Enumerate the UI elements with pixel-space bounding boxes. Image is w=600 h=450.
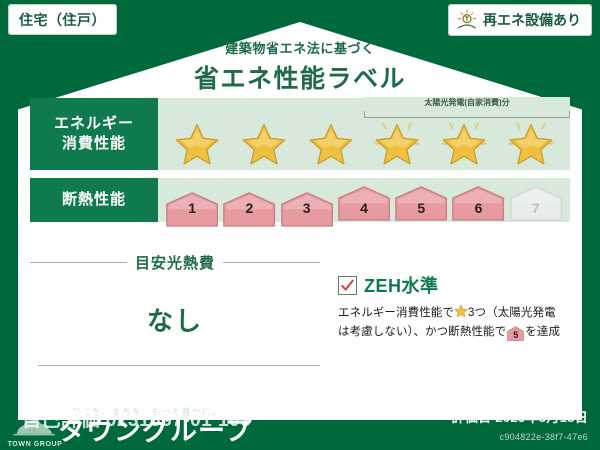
- zeh-desc-part1: エネルギー消費性能で: [338, 307, 454, 319]
- star-icon-solar: [505, 117, 557, 167]
- insulation-performance-value: 1 2 3 4 5: [158, 178, 570, 222]
- insulation-grade-5: 5: [395, 186, 447, 220]
- star-icon: [305, 117, 357, 167]
- check-icon: [338, 276, 357, 295]
- grade-number: 7: [532, 201, 540, 218]
- utility-cost-column: 目安光熱費 なし: [30, 250, 320, 380]
- sun-solar-icon: [456, 9, 478, 31]
- star-icon: [171, 117, 223, 167]
- evaluation-date: 評価日 2025年8月18日: [452, 407, 588, 426]
- energy-label-line1: エネルギー: [54, 114, 134, 134]
- lower-section: 目安光熱費 なし ZEH水準 エネルギー消費性能で3つ（太陽光発電は考慮しない）…: [30, 250, 570, 380]
- insulation-grade-7: 7: [510, 186, 562, 220]
- grade-number: 6: [475, 201, 483, 218]
- solar-portion-bracket: 太陽光発電(自家消費)分: [364, 100, 570, 118]
- zeh-title: ZEH水準: [364, 272, 439, 298]
- star-icon-solar: [438, 117, 490, 167]
- insulation-grade-6: 6: [452, 186, 504, 220]
- insulation-grade-2: 2: [223, 192, 275, 220]
- insulation-performance-row: 断熱性能 1 2 3: [30, 178, 570, 222]
- grade-number: 3: [303, 201, 311, 218]
- housing-type-badge: 住宅（住戸）: [8, 4, 117, 35]
- star-icon-solar: [371, 117, 423, 167]
- insulation-grade-1: 1: [166, 192, 218, 220]
- energy-performance-label: エネルギー 消費性能: [30, 98, 158, 170]
- inline-grade-house-icon: 5: [507, 326, 524, 341]
- grade-number: 1: [188, 201, 196, 218]
- utility-cost-value: なし: [30, 301, 320, 338]
- evaluation-id: c904822e-38f7-47e6: [500, 432, 588, 442]
- energy-label-line2: 消費性能: [62, 134, 126, 154]
- insulation-performance-label: 断熱性能: [30, 178, 158, 222]
- zeh-desc-part3: は考慮しない）、かつ断熱性能で: [338, 326, 506, 338]
- energy-performance-value: 太陽光発電(自家消費)分: [158, 98, 570, 170]
- star-icon: [238, 117, 290, 167]
- energy-star-rating: [164, 117, 564, 167]
- grade-number: 5: [417, 201, 425, 218]
- solar-portion-note: 太陽光発電(自家消費)分: [364, 97, 570, 108]
- insulation-grade-3: 3: [281, 192, 333, 220]
- zeh-desc-part2: 3つ（太陽光発電: [468, 307, 556, 319]
- label-subtitle: 建築物省エネ法に基づく: [0, 38, 600, 57]
- label-title-block: 建築物省エネ法に基づく 省エネ性能ラベル: [0, 38, 600, 95]
- logo-wordmark: TOWN GROUP: [8, 441, 63, 448]
- inline-grade-number: 5: [507, 326, 524, 345]
- grade-number: 4: [360, 201, 368, 218]
- energy-performance-row: エネルギー 消費性能 太陽光発電(自家消費)分: [30, 98, 570, 170]
- insulation-grade-scale: 1 2 3 4 5: [166, 186, 562, 220]
- insulation-label-text: 断熱性能: [62, 190, 126, 210]
- heading-rule-right: [223, 262, 320, 263]
- utility-cost-heading-row: 目安光熱費: [30, 250, 320, 273]
- zeh-description: エネルギー消費性能で3つ（太陽光発電は考慮しない）、かつ断熱性能で5を達成: [338, 304, 570, 342]
- zeh-column: ZEH水準 エネルギー消費性能で3つ（太陽光発電は考慮しない）、かつ断熱性能で5…: [320, 250, 570, 380]
- inline-star-icon: [454, 304, 468, 318]
- page-title: 省エネ性能ラベル: [0, 59, 600, 95]
- grade-number: 2: [246, 201, 254, 218]
- zeh-heading-row: ZEH水準: [338, 272, 570, 298]
- heading-rule-left: [30, 262, 127, 263]
- utility-cost-heading: 目安光熱費: [135, 252, 215, 273]
- utility-cost-divider: [38, 365, 320, 366]
- energy-performance-label: 住宅（住戸） 再エネ設備あり 建築物省エネ法に基づく 省エネ性能ラベル: [0, 0, 600, 450]
- renewable-equipment-badge: 再エネ設備あり: [448, 4, 592, 36]
- performance-block: エネルギー 消費性能 太陽光発電(自家消費)分: [30, 98, 570, 230]
- insulation-grade-4: 4: [338, 186, 390, 220]
- self-evaluation-watermark: 自己評価 0231867-01 103: [22, 405, 251, 432]
- renewable-badge-label: 再エネ設備あり: [483, 10, 581, 30]
- bracket-line: [364, 111, 570, 118]
- zeh-desc-part4: を達成: [525, 326, 560, 338]
